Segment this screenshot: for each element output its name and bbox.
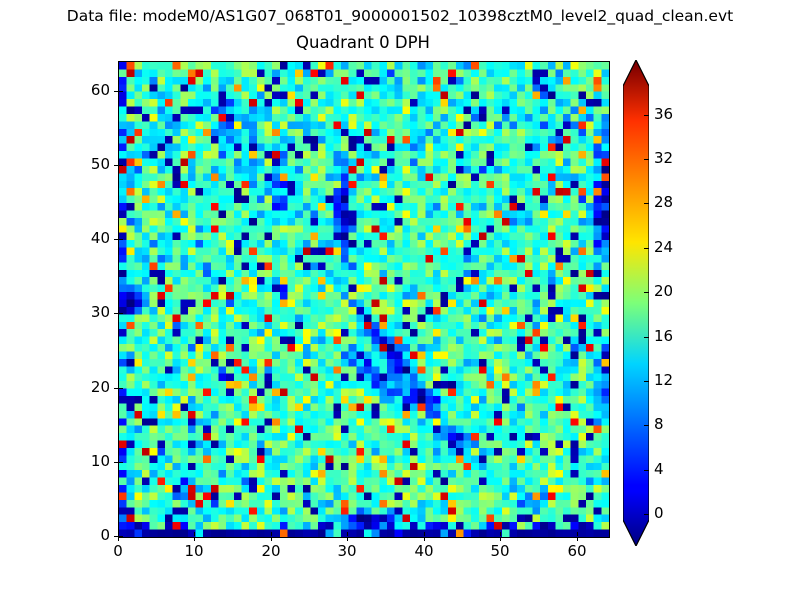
y-tick-label: 0	[50, 527, 110, 544]
x-tick-label: 20	[241, 543, 301, 560]
detector-image[interactable]	[119, 62, 609, 537]
y-tick-label: 40	[50, 230, 110, 247]
y-tick-mark-inner	[119, 536, 123, 537]
y-tick-mark	[114, 313, 118, 314]
colorbar[interactable]	[623, 60, 649, 546]
colorbar-tick-mark	[644, 470, 649, 471]
x-tick-label: 50	[470, 543, 530, 560]
y-tick-mark-inner	[119, 313, 123, 314]
x-tick-mark	[271, 537, 272, 541]
x-tick-mark-inner	[194, 532, 195, 536]
x-tick-mark	[118, 537, 119, 541]
colorbar-tick-mark	[644, 381, 649, 382]
colorbar-tick-label: 32	[654, 150, 704, 167]
y-tick-mark	[114, 388, 118, 389]
x-tick-mark-inner	[271, 532, 272, 536]
y-tick-mark	[114, 165, 118, 166]
colorbar-tick-mark	[644, 292, 649, 293]
y-tick-mark-inner	[119, 239, 123, 240]
x-tick-label: 10	[164, 543, 224, 560]
x-tick-mark	[194, 537, 195, 541]
x-tick-label: 60	[547, 543, 607, 560]
page-title: Quadrant 0 DPH	[118, 33, 608, 53]
y-tick-label: 30	[50, 304, 110, 321]
colorbar-tick-label: 20	[654, 283, 704, 300]
y-tick-mark	[114, 239, 118, 240]
y-tick-mark-inner	[119, 91, 123, 92]
x-tick-mark	[500, 537, 501, 541]
x-tick-label: 0	[88, 543, 148, 560]
colorbar-tick-mark	[644, 115, 649, 116]
y-tick-mark-inner	[119, 165, 123, 166]
colorbar-tick-label: 4	[654, 461, 704, 478]
x-tick-mark-inner	[424, 532, 425, 536]
x-tick-mark-inner	[347, 532, 348, 536]
y-tick-mark-inner	[119, 388, 123, 389]
colorbar-tick-label: 0	[654, 505, 704, 522]
colorbar-tick-mark	[644, 514, 649, 515]
colorbar-gradient	[623, 60, 649, 546]
colorbar-tick-label: 36	[654, 106, 704, 123]
y-tick-label: 10	[50, 453, 110, 470]
colorbar-tick-mark	[644, 425, 649, 426]
x-tick-mark	[347, 537, 348, 541]
y-tick-mark-inner	[119, 462, 123, 463]
colorbar-tick-mark	[644, 159, 649, 160]
colorbar-tick-label: 16	[654, 328, 704, 345]
x-tick-mark	[424, 537, 425, 541]
x-tick-mark-inner	[577, 532, 578, 536]
data-file-suptitle: Data file: modeM0/AS1G07_068T01_90000015…	[0, 7, 800, 25]
y-tick-label: 60	[50, 82, 110, 99]
colorbar-tick-mark	[644, 337, 649, 338]
x-tick-label: 30	[317, 543, 377, 560]
colorbar-tick-mark	[644, 248, 649, 249]
y-tick-mark	[114, 91, 118, 92]
y-tick-label: 20	[50, 379, 110, 396]
colorbar-tick-mark	[644, 203, 649, 204]
heatmap-axes[interactable]	[118, 61, 610, 538]
colorbar-tick-label: 24	[654, 239, 704, 256]
x-tick-mark-inner	[500, 532, 501, 536]
colorbar-tick-label: 28	[654, 194, 704, 211]
y-tick-mark	[114, 462, 118, 463]
y-tick-mark	[114, 536, 118, 537]
x-tick-mark	[577, 537, 578, 541]
colorbar-tick-label: 8	[654, 416, 704, 433]
colorbar-tick-label: 12	[654, 372, 704, 389]
x-tick-label: 40	[394, 543, 454, 560]
figure-canvas: Data file: modeM0/AS1G07_068T01_90000015…	[0, 0, 800, 600]
y-tick-label: 50	[50, 156, 110, 173]
